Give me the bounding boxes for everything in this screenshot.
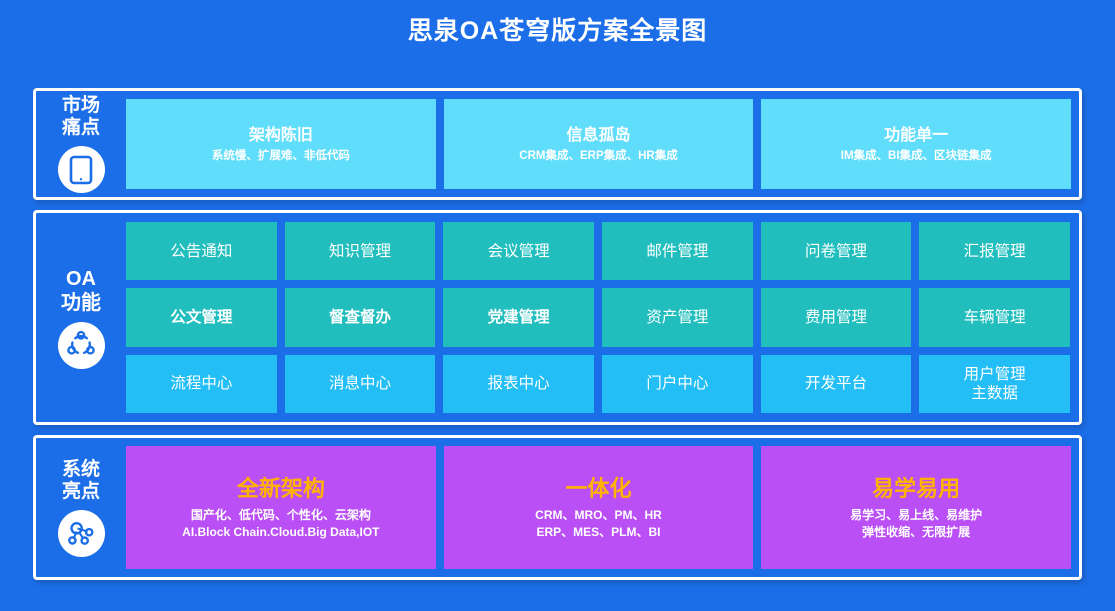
section-system-highlights: 系统 亮点 全新架构 国产化、低代码、个性化、云架构 AI.Block Chai…: [33, 435, 1082, 580]
oa-cell-message-center[interactable]: 消息中心: [285, 355, 436, 413]
molecule-nodes-icon: [58, 510, 105, 557]
mobile-phone-icon: [58, 146, 105, 193]
section-label-text: 系统 亮点: [62, 459, 100, 503]
section-label-oa-functions: OA 功能: [36, 213, 126, 422]
highlight-card-2-subtitle: CRM、MRO、PM、HR ERP、MES、PLM、BI: [535, 507, 662, 541]
highlight-card-1[interactable]: 全新架构 国产化、低代码、个性化、云架构 AI.Block Chain.Clou…: [126, 446, 436, 569]
highlight-card-1-title: 全新架构: [237, 475, 325, 503]
section-label-text: 市场 痛点: [62, 95, 100, 139]
highlight-card-2[interactable]: 一体化 CRM、MRO、PM、HR ERP、MES、PLM、BI: [444, 446, 754, 569]
pain-card-2[interactable]: 信息孤岛 CRM集成、ERP集成、HR集成: [444, 99, 754, 189]
pain-card-3-subtitle: IM集成、BI集成、区块链集成: [841, 149, 992, 164]
highlight-card-2-title: 一体化: [566, 475, 632, 503]
oa-cell-dev-platform[interactable]: 开发平台: [761, 355, 912, 413]
section-label-text: OA 功能: [61, 267, 101, 315]
oa-cell-portal-center[interactable]: 门户中心: [602, 355, 753, 413]
oa-cell-mail[interactable]: 邮件管理: [602, 222, 753, 280]
oa-cell-supervision[interactable]: 督查督办: [285, 288, 436, 346]
section-label-system-highlights: 系统 亮点: [36, 438, 126, 577]
pain-card-2-title: 信息孤岛: [567, 125, 631, 147]
oa-cell-report[interactable]: 汇报管理: [919, 222, 1070, 280]
oa-cell-party-building[interactable]: 党建管理: [443, 288, 594, 346]
oa-cell-workflow-center[interactable]: 流程中心: [126, 355, 277, 413]
oa-cell-survey[interactable]: 问卷管理: [761, 222, 912, 280]
oa-cell-meeting[interactable]: 会议管理: [443, 222, 594, 280]
oa-cell-document[interactable]: 公文管理: [126, 288, 277, 346]
share-network-icon: [58, 322, 105, 369]
oa-cell-report-center[interactable]: 报表中心: [443, 355, 594, 413]
pain-card-1-subtitle: 系统慢、扩展难、非低代码: [212, 149, 350, 164]
pain-card-1-title: 架构陈旧: [249, 125, 313, 147]
pain-card-3[interactable]: 功能单一 IM集成、BI集成、区块链集成: [761, 99, 1071, 189]
section-oa-functions: OA 功能 公告通知 知识管理 会议管理 邮件管理 问卷管理 汇报管理 公文管理…: [33, 210, 1082, 425]
pain-card-3-title: 功能单一: [884, 125, 948, 147]
pain-card-2-subtitle: CRM集成、ERP集成、HR集成: [519, 149, 677, 164]
highlight-card-3-title: 易学易用: [872, 475, 960, 503]
oa-cell-knowledge[interactable]: 知识管理: [285, 222, 436, 280]
oa-cell-user-master-data[interactable]: 用户管理 主数据: [919, 355, 1070, 413]
highlight-card-3[interactable]: 易学易用 易学习、易上线、易维护 弹性收缩、无限扩展: [761, 446, 1071, 569]
pain-card-1[interactable]: 架构陈旧 系统慢、扩展难、非低代码: [126, 99, 436, 189]
oa-cell-expense[interactable]: 费用管理: [761, 288, 912, 346]
section-market-pain-points: 市场 痛点 架构陈旧 系统慢、扩展难、非低代码 信息孤岛 CRM集成、ERP集成…: [33, 88, 1082, 200]
oa-cell-announcement[interactable]: 公告通知: [126, 222, 277, 280]
oa-function-grid: 公告通知 知识管理 会议管理 邮件管理 问卷管理 汇报管理 公文管理 督查督办 …: [126, 213, 1079, 422]
highlight-card-3-subtitle: 易学习、易上线、易维护 弹性收缩、无限扩展: [850, 507, 982, 541]
oa-cell-asset[interactable]: 资产管理: [602, 288, 753, 346]
section-label-market-pain-points: 市场 痛点: [36, 91, 126, 197]
highlight-card-1-subtitle: 国产化、低代码、个性化、云架构 AI.Block Chain.Cloud.Big…: [182, 507, 379, 541]
market-pain-cards: 架构陈旧 系统慢、扩展难、非低代码 信息孤岛 CRM集成、ERP集成、HR集成 …: [126, 91, 1079, 197]
oa-cell-vehicle[interactable]: 车辆管理: [919, 288, 1070, 346]
system-highlight-cards: 全新架构 国产化、低代码、个性化、云架构 AI.Block Chain.Clou…: [126, 438, 1079, 577]
page-title: 思泉OA苍穹版方案全景图: [0, 0, 1115, 62]
